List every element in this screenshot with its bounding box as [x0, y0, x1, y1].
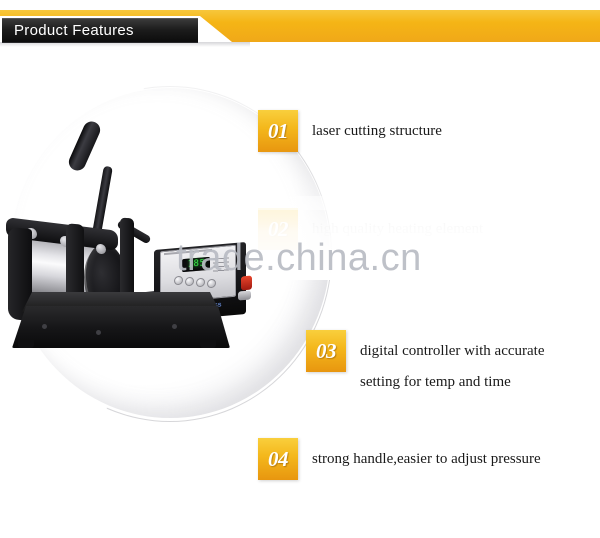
feature-badge-04: 04 — [258, 438, 298, 480]
banner-shadow — [0, 42, 250, 47]
machine-handle-arm — [92, 166, 113, 235]
feature-text-02: high quality heating element — [298, 208, 598, 245]
feature-item-04: 04 strong handle,easier to adjust pressu… — [258, 438, 598, 480]
feature-item-02: 02 high quality heating element — [258, 208, 598, 250]
machine-base-bolt — [96, 330, 101, 335]
feature-list: 01 laser cutting structure 02 high quali… — [258, 88, 598, 500]
product-features-page: Product Features — [0, 0, 600, 538]
machine-foot — [18, 340, 34, 348]
section-banner: Product Features — [0, 10, 600, 42]
feature-badge-01: 01 — [258, 110, 298, 152]
feature-line: laser cutting structure — [312, 116, 598, 147]
machine-base-bolt — [172, 324, 177, 329]
feature-badge-03: 03 — [306, 330, 346, 372]
machine-base-bolt — [42, 324, 47, 329]
machine-led-value: 185 — [184, 258, 209, 271]
machine-handle-grip — [66, 119, 103, 173]
machine-socket — [238, 290, 251, 300]
feature-text-01: laser cutting structure — [298, 110, 598, 147]
page-title: Product Features — [14, 21, 244, 43]
feature-text-03: digital controller with accurate setting… — [346, 330, 598, 398]
feature-line: high quality heating element — [312, 214, 598, 245]
heat-press-machine-illustration: 185 heatpress — [4, 78, 260, 428]
machine-knob — [96, 243, 106, 254]
machine-power-switch — [241, 276, 252, 291]
feature-item-01: 01 laser cutting structure — [258, 110, 598, 152]
product-photo: 185 heatpress — [4, 78, 260, 428]
feature-text-04: strong handle,easier to adjust pressure — [298, 438, 598, 475]
machine-foot — [200, 340, 216, 348]
machine-panel-ticks — [213, 257, 229, 272]
feature-item-03: 03 digital controller with accurate sett… — [306, 330, 598, 398]
feature-line: setting for temp and time — [360, 367, 598, 398]
feature-line: digital controller with accurate — [360, 336, 598, 367]
feature-line: strong handle,easier to adjust pressure — [312, 444, 598, 475]
feature-badge-02: 02 — [258, 208, 298, 250]
